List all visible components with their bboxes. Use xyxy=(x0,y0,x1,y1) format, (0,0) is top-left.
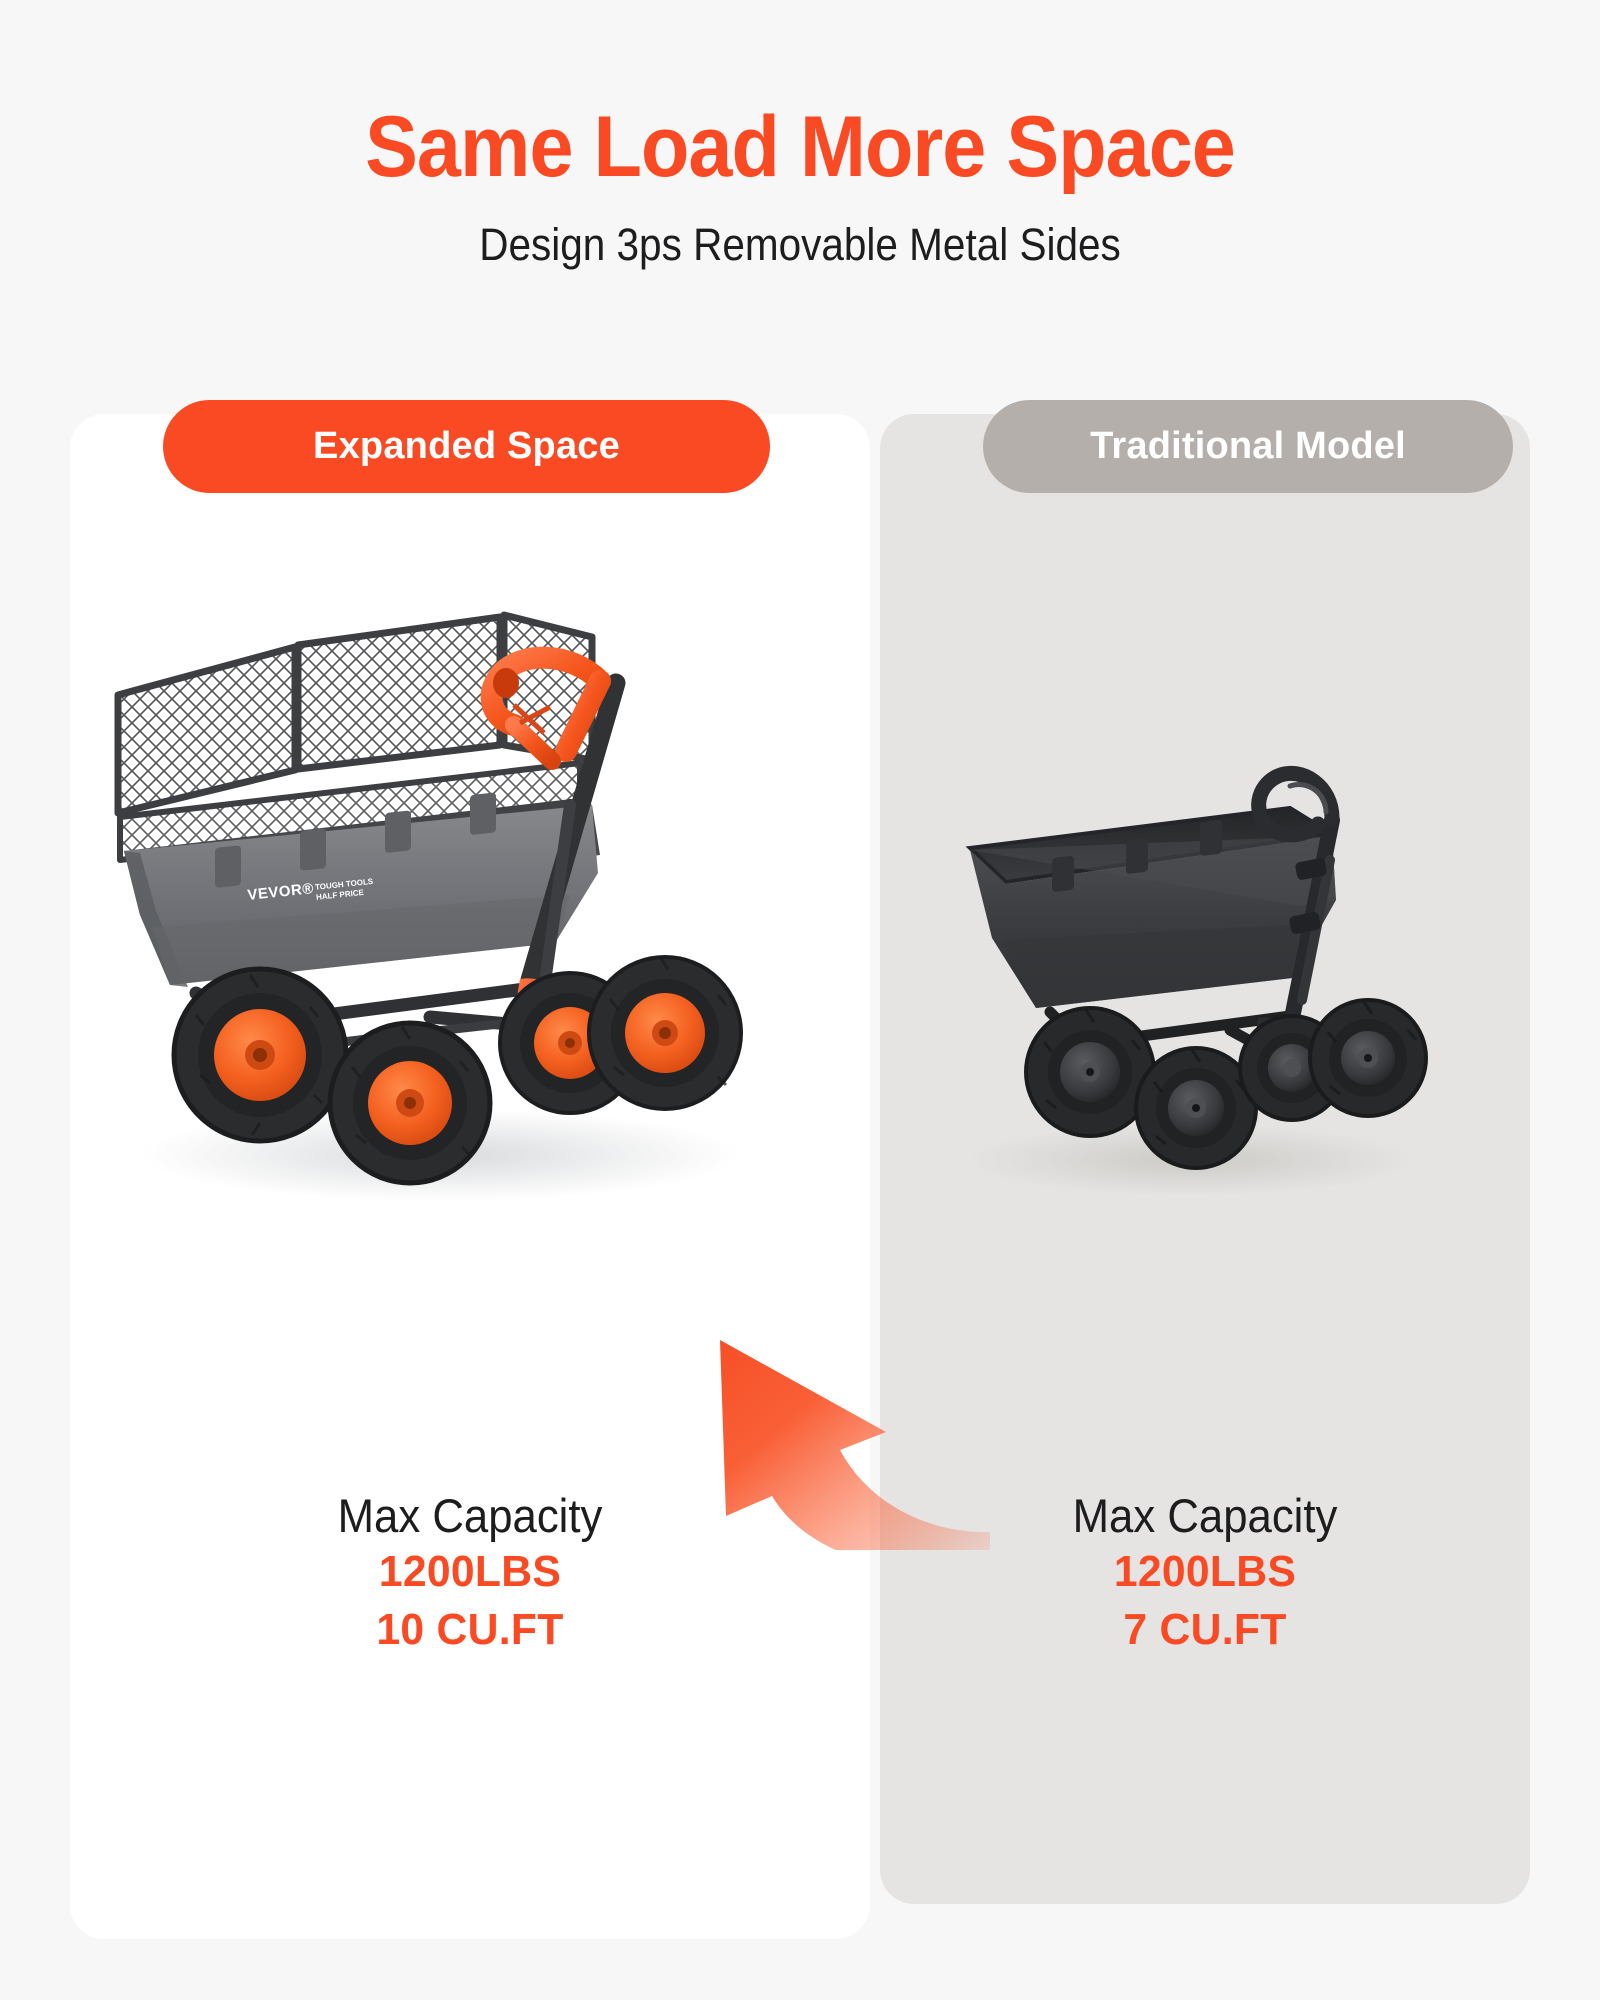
wheel-front-right xyxy=(589,957,741,1109)
trad-wheel-front-right xyxy=(1310,1000,1426,1116)
capacity-weight-expanded: 1200LBS xyxy=(121,1543,819,1600)
product-comparison-page: Same Load More Space Design 3ps Removabl… xyxy=(0,0,1600,2000)
curved-arrow-icon xyxy=(690,1320,990,1550)
badge-traditional-model: Traditional Model xyxy=(983,400,1513,493)
badge-expanded-space: Expanded Space xyxy=(163,400,770,493)
capacity-volume-traditional: 7 CU.FT xyxy=(909,1601,1501,1658)
wheel-rear-left xyxy=(174,969,346,1141)
capacity-weight-traditional: 1200LBS xyxy=(909,1543,1501,1600)
trad-wheel-front-left xyxy=(1136,1048,1256,1168)
capacity-block-traditional: Max Capacity 1200LBS 7 CU.FT xyxy=(900,1488,1510,1658)
wheel-front-left xyxy=(330,1023,490,1183)
comparison-arrow xyxy=(690,1320,990,1550)
page-subtitle: Design 3ps Removable Metal Sides xyxy=(80,220,1520,270)
capacity-volume-expanded: 10 CU.FT xyxy=(121,1601,819,1658)
traditional-cart-illustration xyxy=(940,700,1500,1260)
expanded-cart-illustration: VEVOR® TOUGH TOOLS HALF PRICE xyxy=(100,555,840,1275)
header: Same Load More Space Design 3ps Removabl… xyxy=(0,0,1600,270)
capacity-title-traditional: Max Capacity xyxy=(921,1488,1488,1543)
page-title: Same Load More Space xyxy=(64,104,1536,190)
product-image-traditional-cart xyxy=(940,700,1500,1260)
product-image-expanded-cart: VEVOR® TOUGH TOOLS HALF PRICE xyxy=(100,555,840,1275)
